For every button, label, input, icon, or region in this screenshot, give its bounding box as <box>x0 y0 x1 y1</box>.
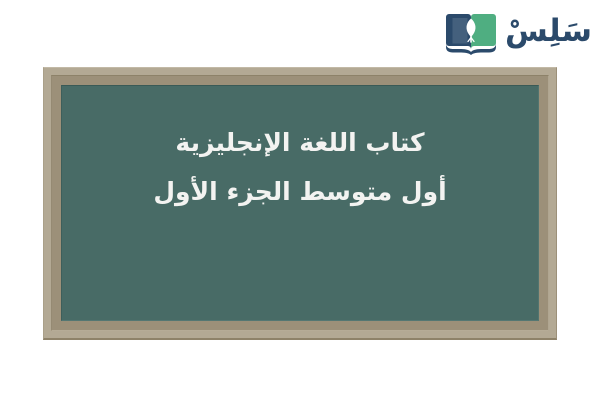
page-root: سَلِسْ كتاب اللغة الإنجليز <box>0 0 600 400</box>
blackboard-frame: كتاب اللغة الإنجليزية أول متوسط الجزء ال… <box>43 67 557 340</box>
open-book-with-quill-icon <box>445 9 497 55</box>
blackboard-frame-inner: كتاب اللغة الإنجليزية أول متوسط الجزء ال… <box>51 75 549 331</box>
page-subtitle: أول متوسط الجزء الأول <box>153 179 446 204</box>
page-title: كتاب اللغة الإنجليزية <box>175 130 424 155</box>
blackboard-surface: كتاب اللغة الإنجليزية أول متوسط الجزء ال… <box>61 85 539 321</box>
brand-wordmark: سَلِسْ <box>505 16 592 49</box>
brand-logo[interactable]: سَلِسْ <box>445 6 592 58</box>
